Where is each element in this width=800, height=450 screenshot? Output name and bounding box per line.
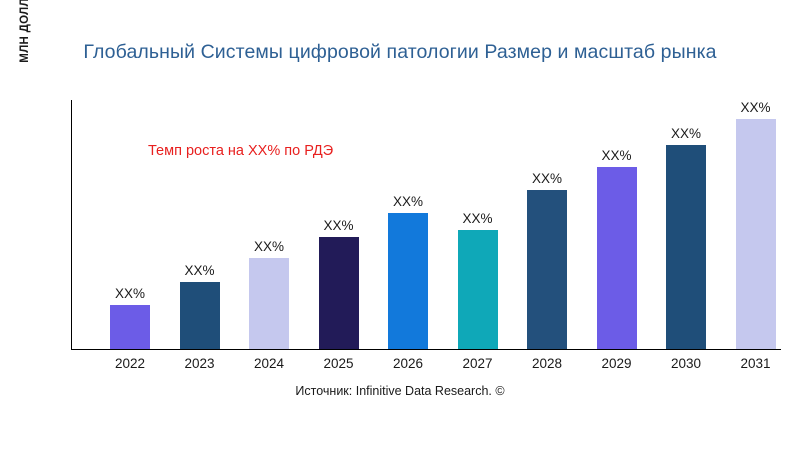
plot-area: XX%XX%XX%XX%XX%XX%XX%XX%XX%XX% [71,100,781,350]
bar-value-label-2024: XX% [231,239,307,254]
bar-rect-2022[interactable] [110,305,150,349]
bar-value-label-2026: XX% [370,194,446,209]
source-note: Источник: Infinitive Data Research. © [0,384,800,398]
bar-2030[interactable]: XX% [666,145,706,349]
bar-value-label-2027: XX% [440,211,516,226]
bar-rect-2026[interactable] [388,213,428,349]
bar-2026[interactable]: XX% [388,213,428,349]
x-axis-line [71,349,781,350]
bar-rect-2031[interactable] [736,119,776,349]
x-tick-label-2030: 2030 [648,356,724,371]
bar-value-label-2028: XX% [509,171,585,186]
x-tick-label-2023: 2023 [162,356,238,371]
x-tick-label-2027: 2027 [440,356,516,371]
x-tick-label-2022: 2022 [92,356,168,371]
bar-2025[interactable]: XX% [319,237,359,349]
bar-2031[interactable]: XX% [736,119,776,349]
bar-value-label-2030: XX% [648,126,724,141]
bar-rect-2024[interactable] [249,258,289,349]
x-tick-label-2026: 2026 [370,356,446,371]
y-axis-line [71,100,72,350]
x-tick-label-2028: 2028 [509,356,585,371]
bar-rect-2025[interactable] [319,237,359,349]
bar-2022[interactable]: XX% [110,305,150,349]
bar-2029[interactable]: XX% [597,167,637,349]
chart-title: Глобальный Системы цифровой патологии Ра… [0,40,800,64]
bar-value-label-2023: XX% [162,263,238,278]
x-tick-label-2029: 2029 [579,356,655,371]
x-tick-label-2031: 2031 [718,356,794,371]
x-tick-label-2024: 2024 [231,356,307,371]
bar-value-label-2022: XX% [92,286,168,301]
y-axis-title: МЛН ДОЛЛАРОВ США [14,0,36,122]
x-tick-label-2025: 2025 [301,356,377,371]
bar-rect-2029[interactable] [597,167,637,349]
bar-value-label-2025: XX% [301,218,377,233]
bar-rect-2030[interactable] [666,145,706,349]
bar-rect-2027[interactable] [458,230,498,349]
bar-2023[interactable]: XX% [180,282,220,349]
bar-value-label-2031: XX% [718,100,794,115]
bar-value-label-2029: XX% [579,148,655,163]
growth-rate-annotation: Темп роста на XX% по РДЭ [148,143,333,159]
bar-rect-2028[interactable] [527,190,567,349]
chart-container: Глобальный Системы цифровой патологии Ра… [0,0,800,450]
bar-2027[interactable]: XX% [458,230,498,349]
bar-rect-2023[interactable] [180,282,220,349]
bar-2028[interactable]: XX% [527,190,567,349]
bar-2024[interactable]: XX% [249,258,289,349]
